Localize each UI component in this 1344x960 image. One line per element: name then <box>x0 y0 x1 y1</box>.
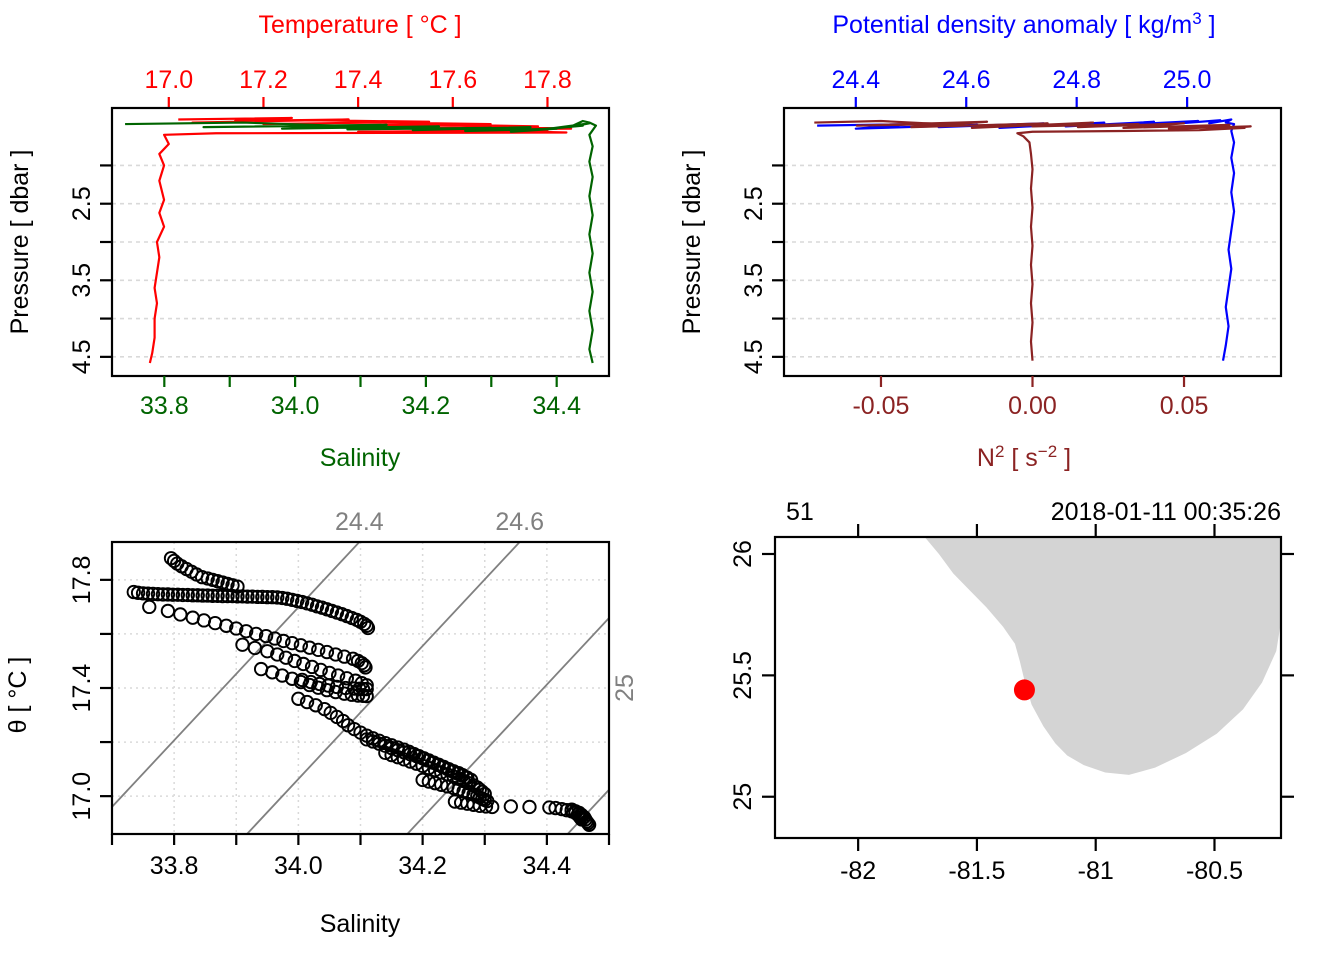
svg-text:17.4: 17.4 <box>334 66 383 94</box>
svg-text:24.4: 24.4 <box>335 508 384 536</box>
svg-text:17.0: 17.0 <box>68 772 96 821</box>
svg-text:3.5: 3.5 <box>740 263 768 298</box>
svg-text:-0.05: -0.05 <box>852 392 909 420</box>
panel-ts-diagram: 24.424.6 25 17.017.417.8 θ [ °C ] 33.834… <box>0 480 672 960</box>
temperature-tick-labels: 17.017.217.417.617.8 <box>144 66 571 108</box>
svg-text:34.4: 34.4 <box>532 392 581 420</box>
svg-text:34.2: 34.2 <box>402 392 451 420</box>
land-polygon <box>925 537 1281 775</box>
pressure-axis-title: Pressure [ dbar ] <box>6 150 34 335</box>
salinity-axis-title: Salinity <box>320 444 401 472</box>
svg-text:-81: -81 <box>1078 857 1114 885</box>
svg-text:2.5: 2.5 <box>68 186 96 221</box>
station-map-svg: 51 2018-01-11 00:35:26 2525.526 -82-81.5… <box>672 480 1344 960</box>
svg-text:-80.5: -80.5 <box>1186 857 1243 885</box>
svg-text:25.0: 25.0 <box>1163 66 1212 94</box>
figure-root: Temperature [ °C ] 17.017.217.417.617.8 … <box>0 0 1344 960</box>
salinity-axis-title: Salinity <box>320 910 401 938</box>
panel-temperature-salinity-profile: Temperature [ °C ] 17.017.217.417.617.8 … <box>0 0 672 480</box>
density-axis-title: Potential density anomaly [ kg/m3 ] <box>832 9 1215 40</box>
svg-text:34.0: 34.0 <box>274 852 323 880</box>
svg-text:17.6: 17.6 <box>428 66 477 94</box>
svg-text:34.0: 34.0 <box>271 392 320 420</box>
pressure-tick-labels: 2.53.54.5 <box>68 165 112 374</box>
n2-tick-labels: -0.050.000.05 <box>852 376 1208 420</box>
svg-text:24.8: 24.8 <box>1052 66 1101 94</box>
profile-curves <box>125 118 596 363</box>
svg-text:17.0: 17.0 <box>144 66 193 94</box>
theta-tick-labels: 17.017.417.8 <box>68 556 112 821</box>
salinity-tick-labels: 33.834.034.234.4 <box>112 834 609 880</box>
svg-text:26: 26 <box>729 540 757 568</box>
panel-density-n2-profile: Potential density anomaly [ kg/m3 ] 24.4… <box>672 0 1344 480</box>
panel-station-map: 51 2018-01-11 00:35:26 2525.526 -82-81.5… <box>672 480 1344 960</box>
svg-text:24.6: 24.6 <box>495 508 544 536</box>
svg-text:17.2: 17.2 <box>239 66 288 94</box>
profile-curves <box>814 119 1250 360</box>
ts-diagram-svg: 24.424.6 25 17.017.417.8 θ [ °C ] 33.834… <box>0 480 672 960</box>
svg-text:25: 25 <box>729 783 757 811</box>
isopycnal-right-label: 25 <box>611 674 639 702</box>
theta-axis-title: θ [ °C ] <box>4 657 32 734</box>
svg-text:4.5: 4.5 <box>68 339 96 374</box>
svg-text:3.5: 3.5 <box>68 263 96 298</box>
station-number-label: 51 <box>786 498 814 526</box>
svg-text:33.8: 33.8 <box>140 392 189 420</box>
temperature-salinity-profile-svg: Temperature [ °C ] 17.017.217.417.617.8 … <box>0 0 672 480</box>
timestamp-label: 2018-01-11 00:35:26 <box>1051 498 1281 526</box>
svg-text:17.8: 17.8 <box>68 556 96 605</box>
density-tick-labels: 24.424.624.825.0 <box>831 66 1211 108</box>
temperature-axis-title: Temperature [ °C ] <box>258 11 461 39</box>
svg-text:17.4: 17.4 <box>68 664 96 713</box>
svg-text:24.4: 24.4 <box>831 66 880 94</box>
ts-data-points <box>128 552 596 831</box>
svg-text:-82: -82 <box>840 857 876 885</box>
isopycnal-top-labels: 24.424.6 <box>335 508 544 536</box>
svg-text:34.4: 34.4 <box>523 852 572 880</box>
n2-axis-title: N2 [ s−2 ] <box>977 442 1071 473</box>
svg-text:33.8: 33.8 <box>150 852 199 880</box>
svg-text:2.5: 2.5 <box>740 186 768 221</box>
pressure-tick-labels: 2.53.54.5 <box>740 165 784 374</box>
svg-text:25.5: 25.5 <box>729 651 757 700</box>
density-n2-profile-svg: Potential density anomaly [ kg/m3 ] 24.4… <box>672 0 1344 480</box>
svg-text:17.8: 17.8 <box>523 66 572 94</box>
svg-text:0.00: 0.00 <box>1008 392 1057 420</box>
svg-text:0.05: 0.05 <box>1160 392 1209 420</box>
svg-text:-81.5: -81.5 <box>948 857 1005 885</box>
pressure-axis-title: Pressure [ dbar ] <box>678 150 706 335</box>
svg-text:4.5: 4.5 <box>740 339 768 374</box>
svg-text:24.6: 24.6 <box>942 66 991 94</box>
grid-lines <box>112 165 609 356</box>
salinity-tick-labels: 33.834.034.234.4 <box>140 376 581 420</box>
svg-text:34.2: 34.2 <box>398 852 447 880</box>
station-marker <box>1014 679 1035 700</box>
